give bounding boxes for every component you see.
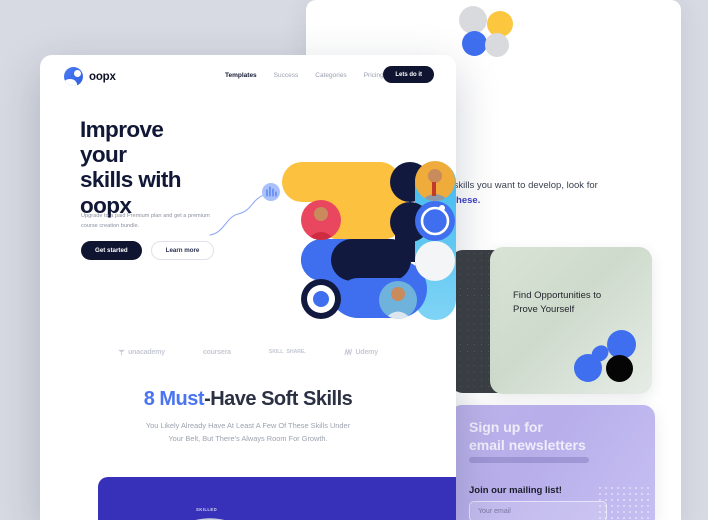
hero-button-group: Get started Learn more [81, 241, 214, 260]
nav-item-success[interactable]: Success [274, 72, 299, 79]
gray-dot-top-icon [459, 6, 487, 34]
unacademy-mark-icon [118, 349, 125, 356]
right-paragraph-strong-2: these. [453, 195, 480, 206]
udemy-mark-icon [344, 348, 353, 356]
newsletter-dot-pattern [597, 485, 649, 519]
nav-item-categories[interactable]: Categories [315, 72, 346, 79]
oopx-logo-icon [64, 67, 83, 86]
gauge-label-skilled: SKILLED [196, 507, 217, 512]
newsletter-email-input[interactable]: Your email [469, 501, 607, 520]
brand-coursera-label: coursera [203, 349, 231, 356]
section-title: 8 Must-Have Soft Skills [40, 388, 456, 411]
brand-unacademy-label: unacademy [128, 349, 165, 356]
hero-heading-line-1: Improve [80, 117, 260, 142]
section-subtitle: You Likely Already Have At Least A Few O… [40, 420, 456, 445]
opportunities-card-title: Find Opportunities to Prove Yourself [513, 289, 631, 318]
navigation-bar: oopx Templates Success Categories Pricin… [40, 55, 456, 99]
hero-heading-line-2: your [80, 142, 260, 167]
brand-logo[interactable]: oopx [64, 67, 116, 86]
black-circle-icon [606, 355, 633, 382]
navigation-links: Templates Success Categories Pricing [225, 72, 384, 79]
screenshot-stage: Improving Your Soft Skills Once you've i… [0, 0, 708, 520]
brand-skillshare-label-2: SHARE. [286, 349, 305, 355]
newsletter-card[interactable]: Sign up for email newsletters Join our m… [450, 405, 655, 520]
main-landing-card: oopx Templates Success Categories Pricin… [40, 55, 456, 520]
nav-item-pricing[interactable]: Pricing [364, 72, 384, 79]
nav-cta-button[interactable]: Lets do it [383, 66, 434, 83]
section-subtitle-line-2: Your Belt, But There's Always Room For G… [40, 433, 456, 446]
opportunities-title-line-1: Find Opportunities to [513, 289, 631, 303]
blob-graphic [574, 330, 638, 382]
newsletter-heading-line-1: Sign up for [469, 419, 644, 437]
hero-collage-graphic [300, 160, 456, 320]
brand-logo-strip: unacademy coursera SKILL SHARE. Udemy [40, 340, 456, 364]
newsletter-join-label: Join our mailing list! [469, 485, 562, 496]
nav-item-templates[interactable]: Templates [225, 72, 257, 79]
brand-udemy: Udemy [344, 348, 378, 356]
section-subtitle-line-1: You Likely Already Have At Least A Few O… [40, 420, 456, 433]
brand-skillshare-label-1: SKILL [269, 349, 284, 355]
brand-udemy-label: Udemy [356, 349, 378, 356]
blue-dot-icon [462, 31, 487, 56]
gray-dot-bottom-icon [485, 33, 509, 57]
hero-paragraph: Upgrade to a paid Premium plan and get a… [81, 212, 216, 232]
brand-skillshare: SKILL SHARE. [269, 349, 306, 355]
decorative-dot-cluster [459, 6, 521, 58]
learn-more-button[interactable]: Learn more [151, 241, 215, 260]
brand-coursera: coursera [203, 349, 231, 356]
opportunities-title-line-2: Prove Yourself [513, 303, 631, 317]
squiggle-arrow-decoration [208, 183, 286, 238]
newsletter-heading-line-2: email newsletters [469, 437, 644, 455]
brand-logo-text: oopx [89, 71, 116, 83]
newsletter-subtext-placeholder [469, 457, 589, 463]
blob-circle-bottom-icon [574, 354, 602, 382]
get-started-button[interactable]: Get started [81, 241, 142, 260]
newsletter-heading: Sign up for email newsletters [469, 419, 644, 455]
brand-unacademy: unacademy [118, 349, 165, 356]
section-title-rest: -Have Soft Skills [204, 388, 352, 410]
section-title-highlight: 8 Must [144, 388, 204, 410]
soft-skills-promo-card: BEGINNER AVERAGE SKILLED SPECIALIST EXPE… [98, 477, 456, 520]
opportunities-card[interactable]: Find Opportunities to Prove Yourself [490, 247, 652, 394]
skill-gauge-graphic: BEGINNER AVERAGE SKILLED SPECIALIST EXPE… [134, 495, 286, 520]
